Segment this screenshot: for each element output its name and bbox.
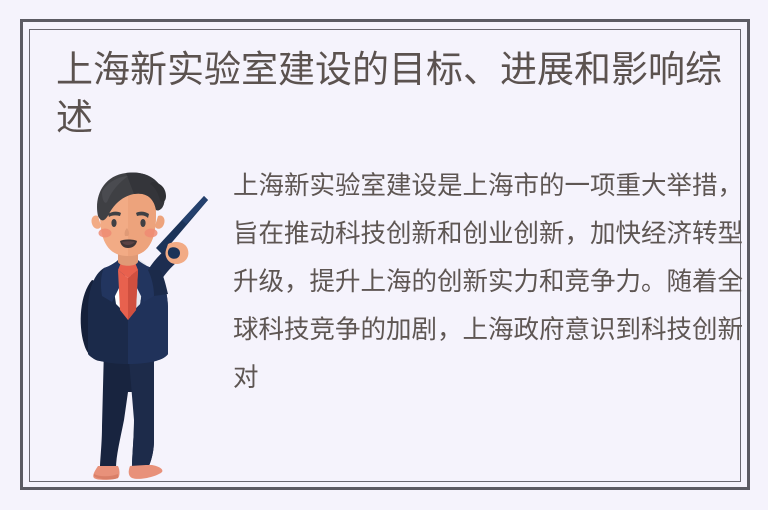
hand: [165, 242, 188, 264]
article-card-frame: 上海新实验室建设的目标、进展和影响综述: [20, 19, 750, 490]
shoes: [93, 465, 162, 480]
businessman-with-pointer-illustration: [58, 168, 238, 488]
article-body-text: 上海新实验室建设是上海市的一项重大举措，旨在推动科技创新和创业创新，加快经济转型…: [233, 162, 743, 402]
legs: [100, 348, 154, 468]
article-card-inner-frame: 上海新实验室建设的目标、进展和影响综述: [29, 29, 741, 482]
businessman-illustration-svg: [58, 168, 238, 488]
tie: [118, 260, 138, 320]
page-title: 上海新实验室建设的目标、进展和影响综述: [56, 46, 728, 142]
article-content-row: 上海新实验室建设是上海市的一项重大举措，旨在推动科技创新和创业创新，加快经济转型…: [30, 162, 740, 481]
